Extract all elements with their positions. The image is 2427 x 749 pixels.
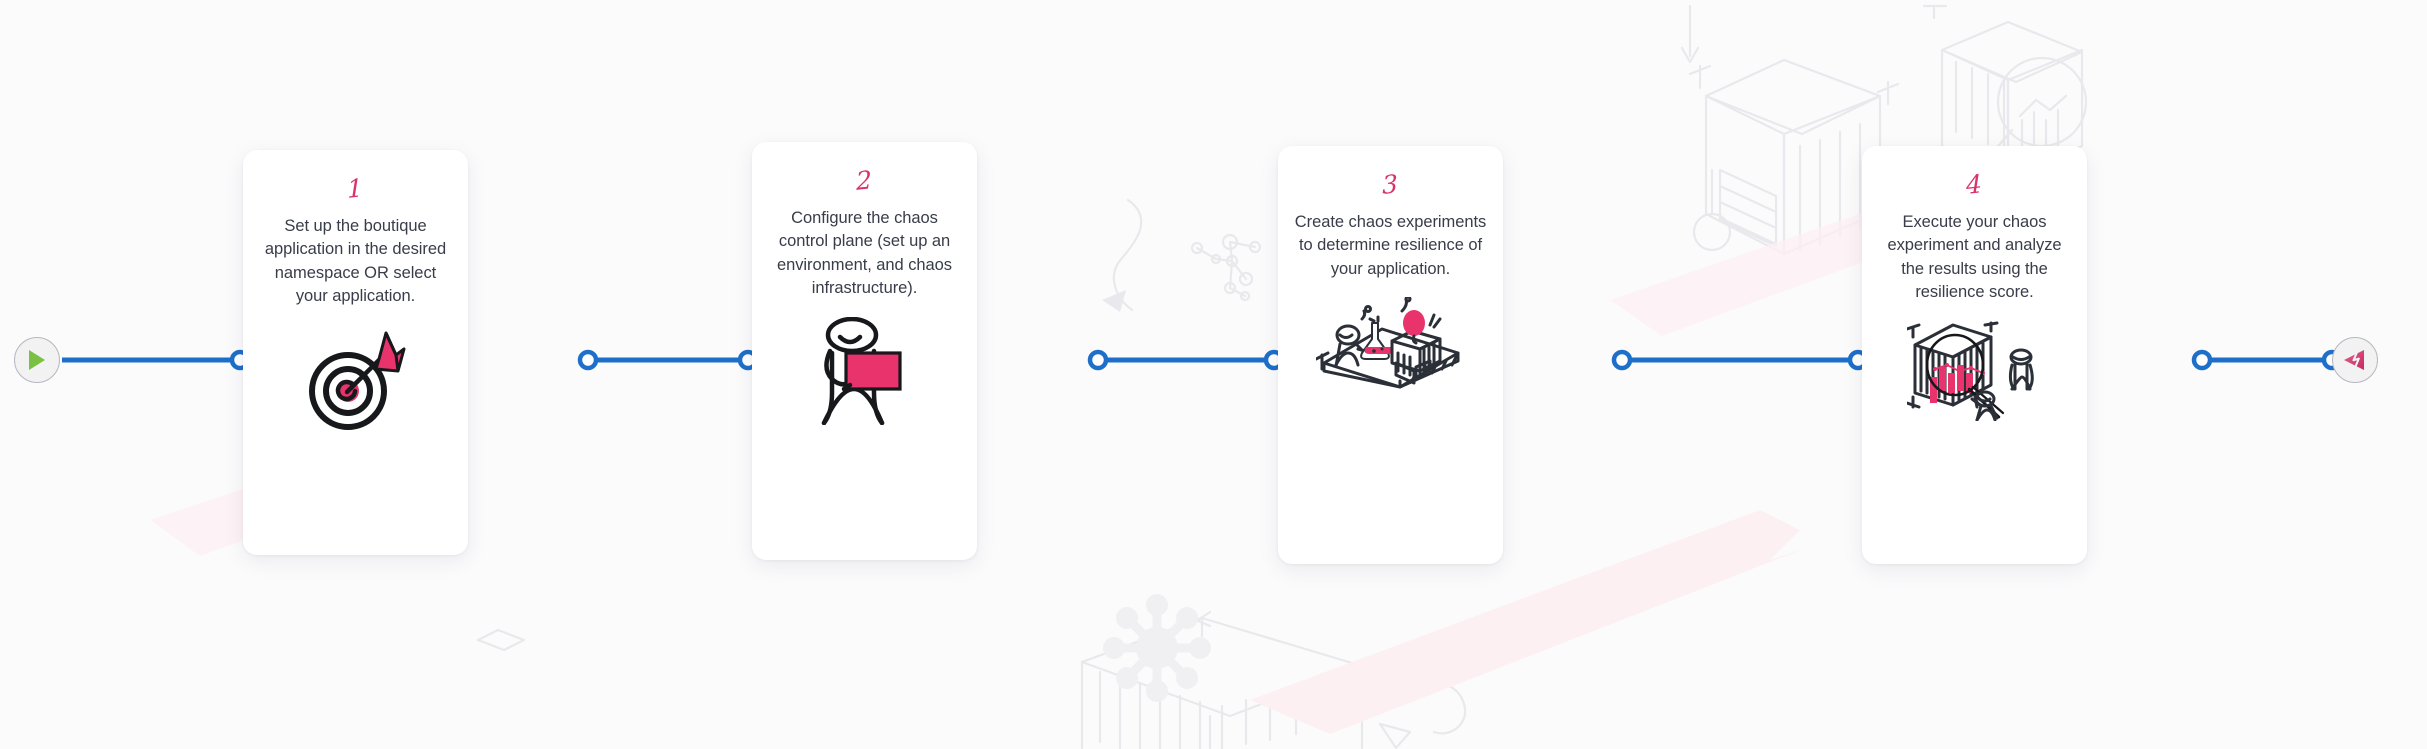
target-with-arrow-icon	[300, 325, 412, 435]
step-illustration-1	[300, 325, 412, 435]
step-card-1[interactable]: 1 Set up the boutique application in the…	[243, 150, 468, 555]
harness-chaos-logo-icon	[2342, 347, 2368, 373]
step-illustration-4	[1907, 321, 2043, 421]
step-description: Execute your chaos experiment and analyz…	[1878, 211, 2071, 305]
step-illustration-3	[1316, 297, 1466, 389]
step-card-4[interactable]: 4 Execute your chaos experiment and anal…	[1862, 146, 2087, 564]
person-with-board-icon	[810, 317, 920, 425]
magnifier-chart-icon	[1907, 321, 2043, 421]
step-number: 4	[1966, 171, 1983, 198]
step-card-2[interactable]: 2 Configure the chaos control plane (set…	[752, 142, 977, 560]
play-icon	[26, 348, 48, 372]
connector-node	[1614, 352, 1630, 368]
step-description: Configure the chaos control plane (set u…	[768, 207, 961, 301]
step-description: Set up the boutique application in the d…	[259, 215, 452, 309]
connector-node	[580, 352, 596, 368]
step-card-3[interactable]: 3 Create chaos experiments to determine …	[1278, 146, 1503, 564]
step-number: 1	[347, 175, 364, 202]
chaos-onboarding-flow: 1 Set up the boutique application in the…	[0, 0, 2427, 749]
connector-node	[1090, 352, 1106, 368]
kubernetes-wheel-watermark	[1103, 594, 1211, 702]
connector-node	[2194, 352, 2210, 368]
step-number: 3	[1382, 171, 1399, 198]
flow-start-marker[interactable]	[14, 337, 60, 383]
step-illustration-2	[810, 317, 920, 425]
flow-end-marker[interactable]	[2332, 337, 2378, 383]
step-description: Create chaos experiments to determine re…	[1294, 211, 1487, 281]
step-number: 2	[856, 167, 873, 194]
scientist-experiment-icon	[1316, 297, 1466, 389]
